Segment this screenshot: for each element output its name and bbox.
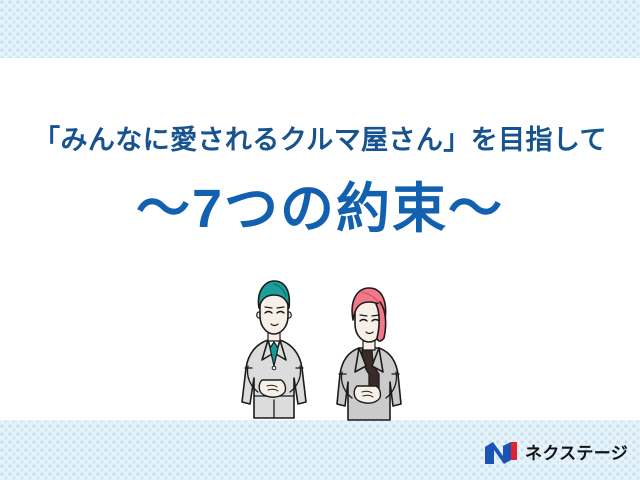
nextage-n-mark-icon bbox=[484, 440, 518, 466]
page-title: 〜7つの約束〜 bbox=[0, 181, 640, 238]
page-headline: 「みんなに愛されるクルマ屋さん」を目指して bbox=[0, 126, 640, 156]
brand-logo: ネクステージ bbox=[484, 438, 628, 468]
brand-logo-text: ネクステージ bbox=[525, 445, 628, 462]
two-staff-bowing-illustration bbox=[232, 268, 432, 424]
slide-canvas: 「みんなに愛されるクルマ屋さん」を目指して 〜7つの約束〜 bbox=[0, 0, 640, 480]
